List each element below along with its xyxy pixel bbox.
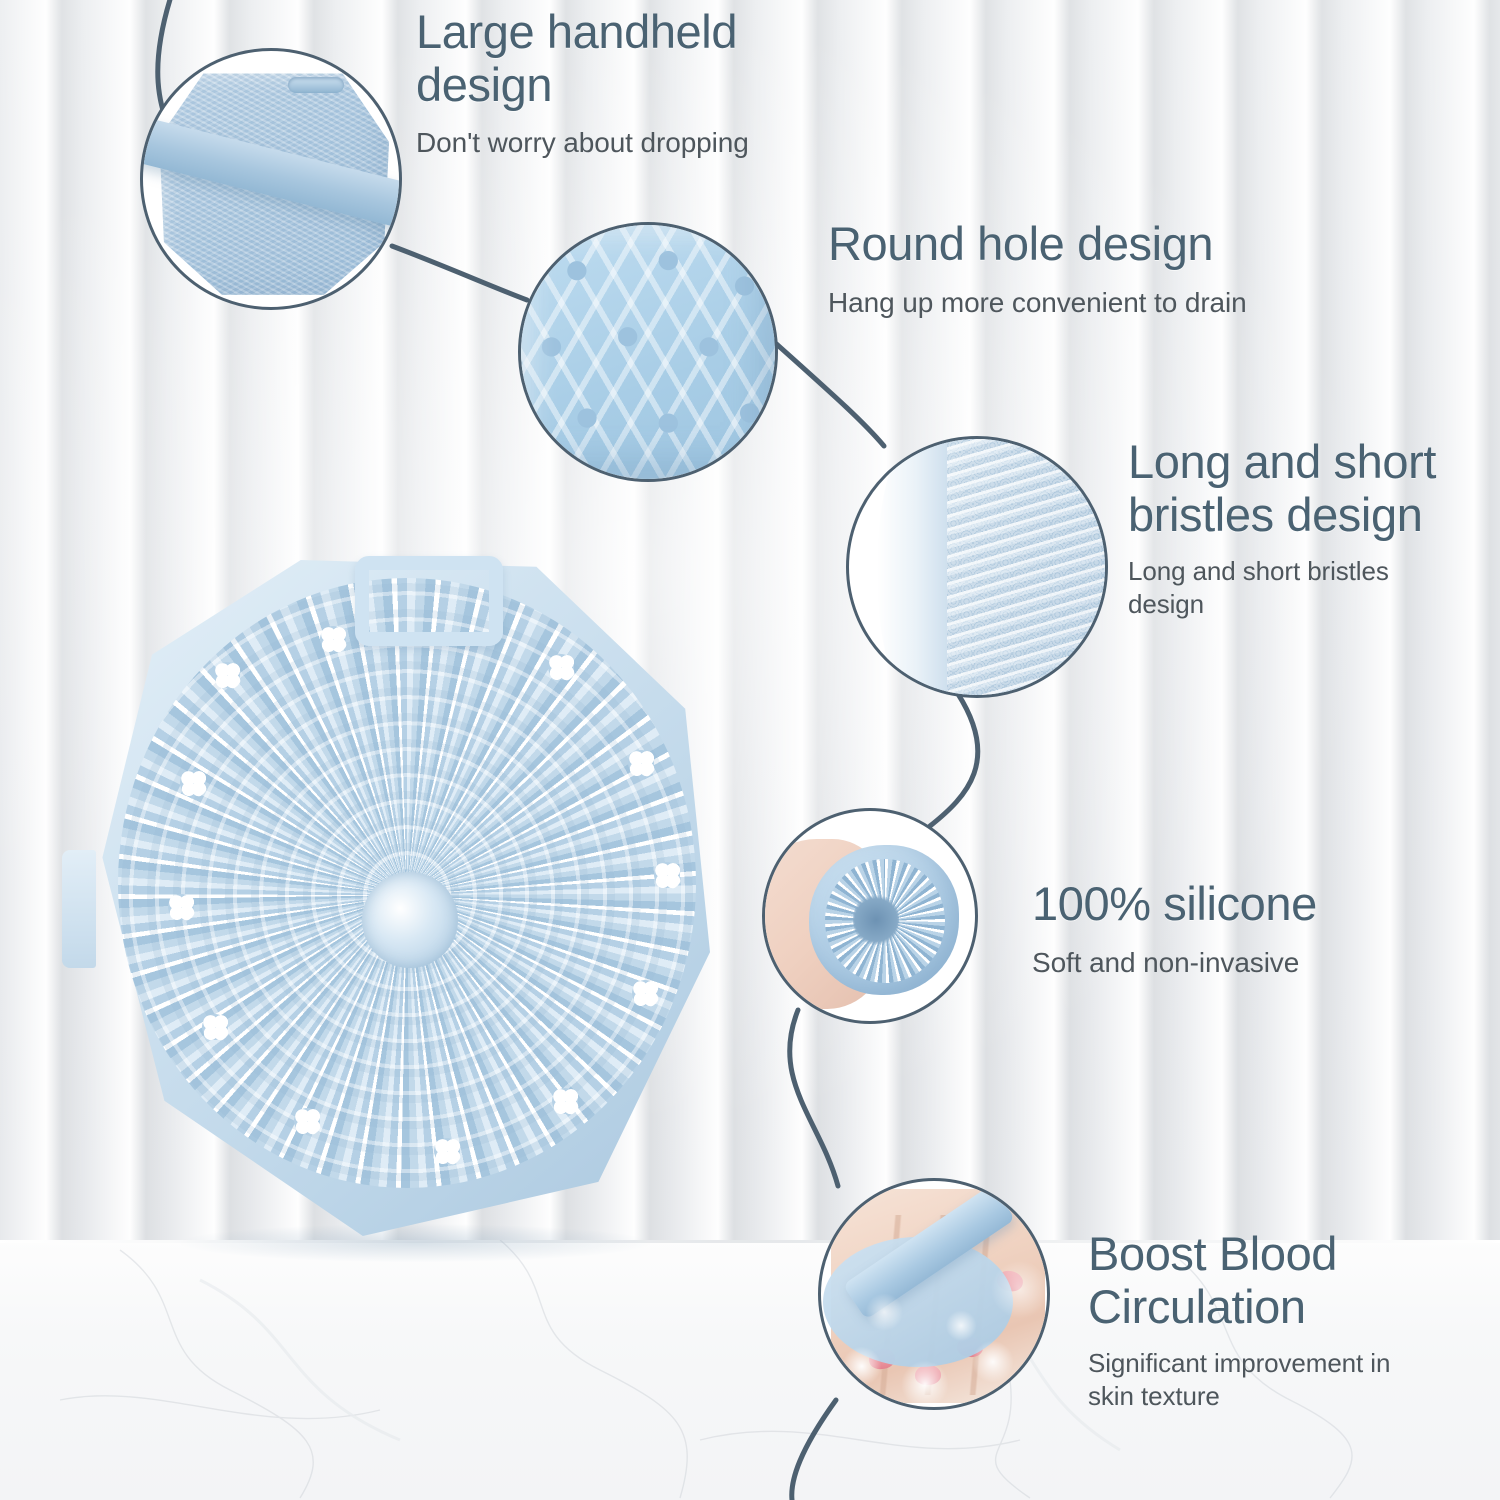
callout-title: 100% silicone bbox=[1032, 878, 1452, 931]
callout-round-hole-design: Round hole design Hang up more convenien… bbox=[828, 218, 1328, 320]
soap-foam bbox=[821, 1181, 1047, 1407]
side-strap-tab bbox=[62, 850, 96, 968]
product-drop-shadow bbox=[180, 1224, 650, 1262]
callout-100-percent-silicone: 100% silicone Soft and non-invasive bbox=[1032, 878, 1452, 980]
callout-subtitle: Long and short bristles design bbox=[1128, 555, 1488, 621]
flexed-silicone-brush bbox=[809, 845, 959, 995]
bristle-dot-cluster bbox=[432, 1136, 462, 1166]
callout-boost-blood-circulation: Boost Blood Circulation Significant impr… bbox=[1088, 1228, 1488, 1413]
callout-subtitle: Soft and non-invasive bbox=[1032, 945, 1452, 980]
callout-long-and-short-bristles-design: Long and short bristles design Long and … bbox=[1128, 436, 1488, 621]
bristle-dot-cluster bbox=[178, 768, 208, 798]
callout-title: Long and short bristles design bbox=[1128, 436, 1488, 541]
hero-product-image bbox=[60, 540, 760, 1270]
callout-subtitle: Significant improvement in skin texture bbox=[1088, 1347, 1488, 1413]
detail-circle-long-and-short-bristles bbox=[846, 436, 1108, 698]
infographic-stage: Large handheld design Don't worry about … bbox=[0, 0, 1500, 1500]
bristle-dot-cluster bbox=[318, 624, 348, 654]
callout-title: Boost Blood Circulation bbox=[1088, 1228, 1488, 1333]
callout-subtitle: Hang up more convenient to drain bbox=[828, 285, 1328, 320]
bristle-center-hub bbox=[362, 872, 458, 968]
bristle-dot-cluster bbox=[630, 978, 660, 1008]
callout-subtitle: Don't worry about dropping bbox=[416, 125, 836, 160]
bristle-dot-cluster bbox=[550, 1086, 580, 1116]
hang-hole-handle bbox=[355, 556, 503, 646]
bristle-dot-cluster bbox=[626, 748, 656, 778]
detail-circle-100-percent-silicone bbox=[762, 808, 978, 1024]
bristle-dot-cluster bbox=[166, 892, 196, 922]
bristle-dot-cluster bbox=[546, 652, 576, 682]
brush-edge-highlight bbox=[877, 436, 947, 698]
bristle-dot-cluster bbox=[200, 1012, 230, 1042]
callout-title: Round hole design bbox=[828, 218, 1328, 271]
detail-circle-round-hole-design bbox=[518, 222, 778, 482]
hang-slot bbox=[288, 77, 344, 93]
callout-title: Large handheld design bbox=[416, 6, 836, 111]
bristle-dot-cluster bbox=[652, 860, 682, 890]
detail-circle-large-handheld-design bbox=[140, 48, 402, 310]
detail-circle-boost-blood-circulation bbox=[818, 1178, 1050, 1410]
bristle-dot-cluster bbox=[212, 660, 242, 690]
bristle-dot-cluster bbox=[292, 1106, 322, 1136]
callout-large-handheld-design: Large handheld design Don't worry about … bbox=[416, 6, 836, 161]
round-hole-texture bbox=[521, 225, 775, 479]
